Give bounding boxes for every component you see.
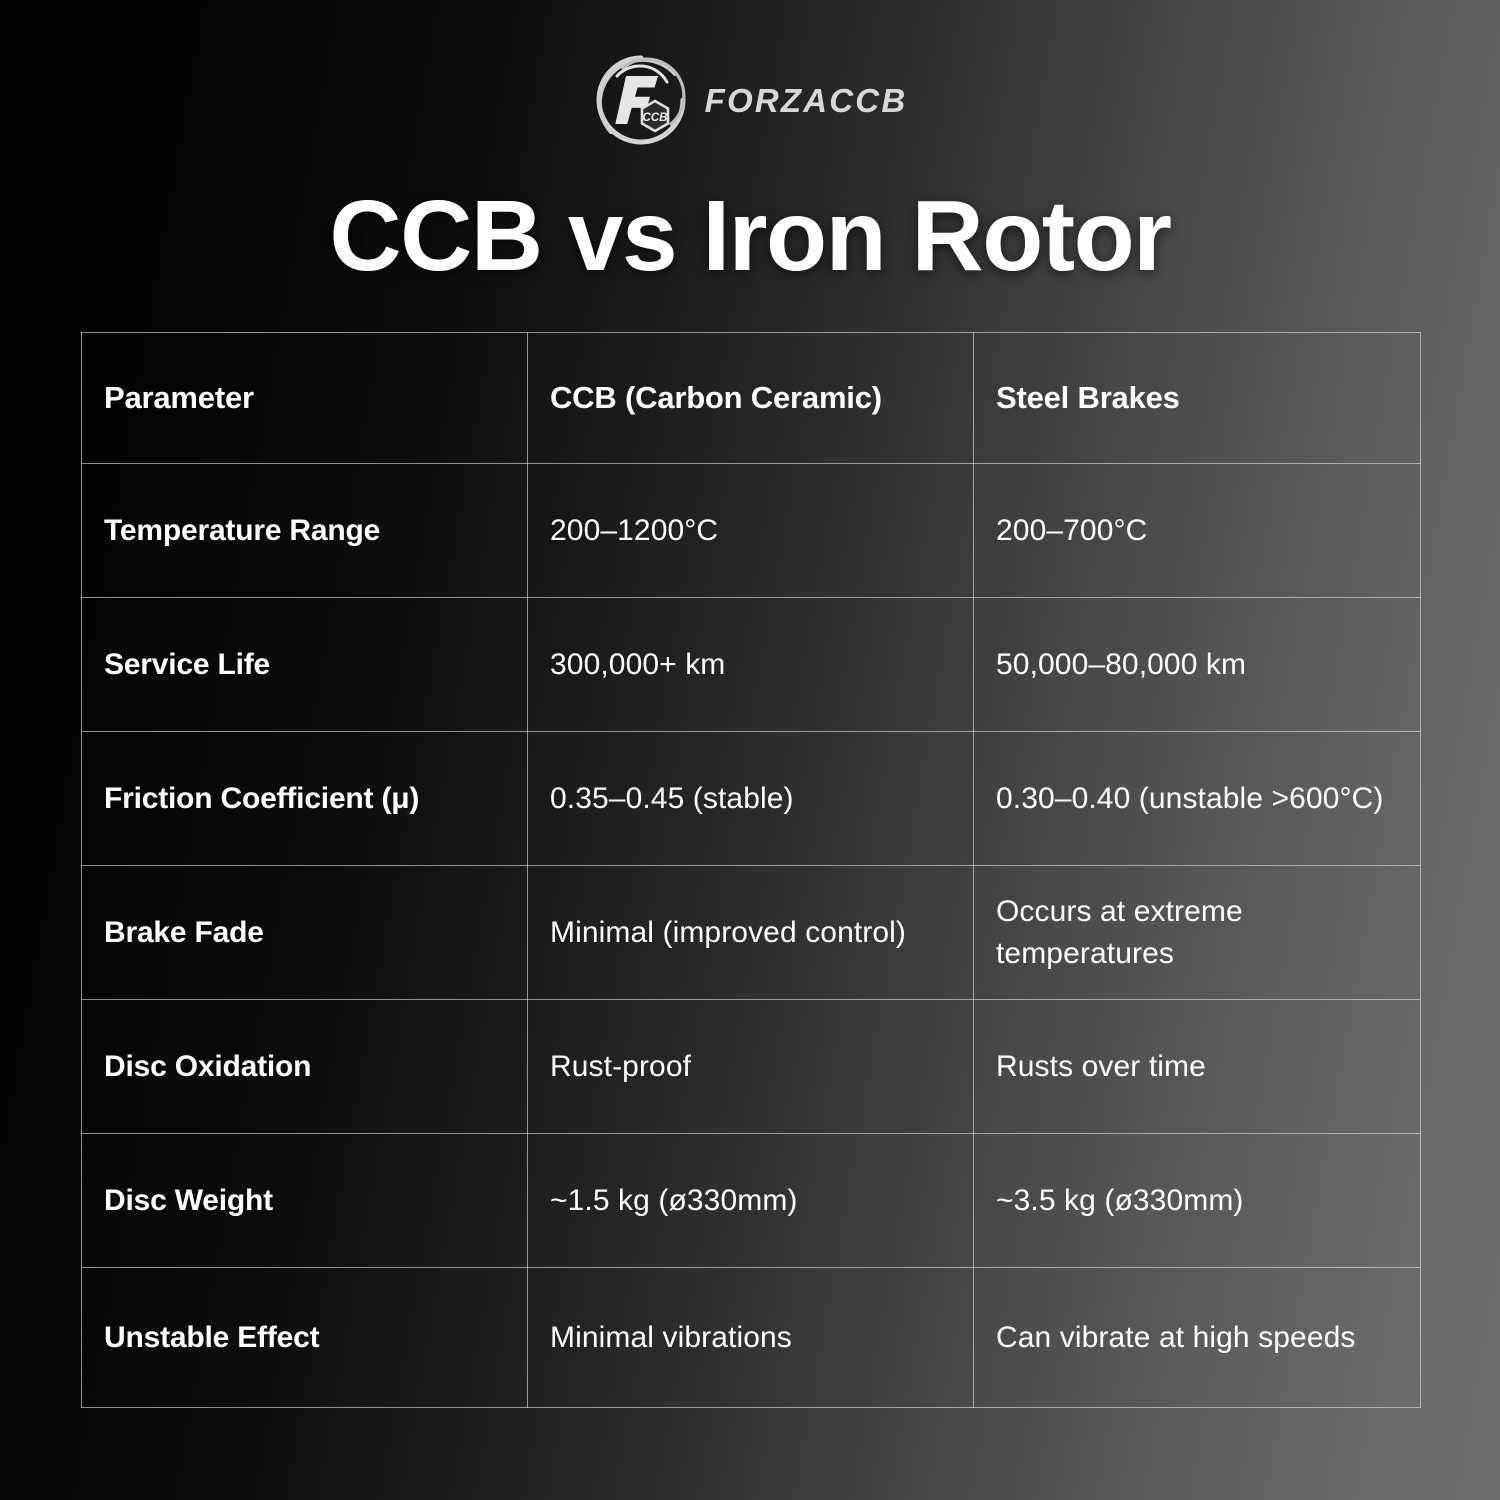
cell-parameter: Brake Fade xyxy=(82,866,528,1000)
cell-steel: 200–700°C xyxy=(974,464,1421,598)
table-row: Friction Coefficient (μ) 0.35–0.45 (stab… xyxy=(82,732,1421,866)
column-header-steel: Steel Brakes xyxy=(974,333,1421,464)
forzaccb-logo-icon: CCB xyxy=(593,52,689,148)
page-title: CCB vs Iron Rotor xyxy=(0,176,1500,296)
cell-steel: 50,000–80,000 km xyxy=(974,598,1421,732)
table-row: Unstable Effect Minimal vibrations Can v… xyxy=(82,1268,1421,1408)
table-row: Service Life 300,000+ km 50,000–80,000 k… xyxy=(82,598,1421,732)
infographic-canvas: CCB FORZACCB CCB vs Iron Rotor Parameter… xyxy=(0,0,1500,1500)
cell-steel: 0.30–0.40 (unstable >600°C) xyxy=(974,732,1421,866)
cell-ccb: Minimal vibrations xyxy=(528,1268,974,1408)
cell-parameter: Unstable Effect xyxy=(82,1268,528,1408)
logo-badge-text: CCB xyxy=(642,112,667,124)
cell-ccb: 0.35–0.45 (stable) xyxy=(528,732,974,866)
column-header-parameter: Parameter xyxy=(82,333,528,464)
column-header-ccb: CCB (Carbon Ceramic) xyxy=(528,333,974,464)
cell-parameter: Service Life xyxy=(82,598,528,732)
comparison-table-container: Parameter CCB (Carbon Ceramic) Steel Bra… xyxy=(81,332,1420,1408)
cell-parameter: Disc Oxidation xyxy=(82,1000,528,1134)
table-row: Disc Weight ~1.5 kg (ø330mm) ~3.5 kg (ø3… xyxy=(82,1134,1421,1268)
cell-steel: Can vibrate at high speeds xyxy=(974,1268,1421,1408)
cell-ccb: 200–1200°C xyxy=(528,464,974,598)
cell-ccb: Rust-proof xyxy=(528,1000,974,1134)
brand-header: CCB FORZACCB xyxy=(0,52,1500,148)
cell-parameter: Friction Coefficient (μ) xyxy=(82,732,528,866)
table-row: Disc Oxidation Rust-proof Rusts over tim… xyxy=(82,1000,1421,1134)
ccb-vs-steel-comparison-table: Parameter CCB (Carbon Ceramic) Steel Bra… xyxy=(81,332,1421,1408)
table-body: Temperature Range 200–1200°C 200–700°C S… xyxy=(82,464,1421,1408)
cell-ccb: Minimal (improved control) xyxy=(528,866,974,1000)
cell-ccb: 300,000+ km xyxy=(528,598,974,732)
table-header-row: Parameter CCB (Carbon Ceramic) Steel Bra… xyxy=(82,333,1421,464)
cell-steel: ~3.5 kg (ø330mm) xyxy=(974,1134,1421,1268)
cell-steel: Rusts over time xyxy=(974,1000,1421,1134)
table-row: Temperature Range 200–1200°C 200–700°C xyxy=(82,464,1421,598)
cell-parameter: Disc Weight xyxy=(82,1134,528,1268)
table-header: Parameter CCB (Carbon Ceramic) Steel Bra… xyxy=(82,333,1421,464)
brand-wordmark: FORZACCB xyxy=(705,84,908,117)
table-row: Brake Fade Minimal (improved control) Oc… xyxy=(82,866,1421,1000)
cell-parameter: Temperature Range xyxy=(82,464,528,598)
cell-steel: Occurs at extreme temperatures xyxy=(974,866,1421,1000)
cell-ccb: ~1.5 kg (ø330mm) xyxy=(528,1134,974,1268)
